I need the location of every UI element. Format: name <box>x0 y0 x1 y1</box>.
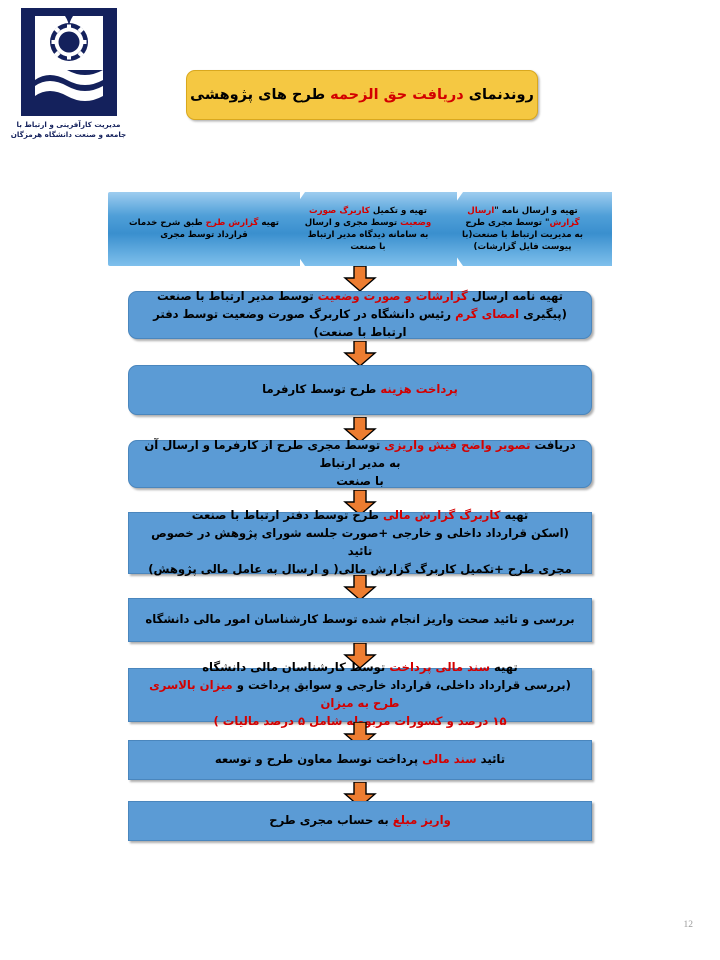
box-prepare-transmittal-letter: تهیه نامه ارسال گزارشات و صورت وضعیت توس… <box>128 291 592 339</box>
text-line: تهیه نامه ارسال گزارشات و صورت وضعیت توس… <box>139 288 581 306</box>
text-line: به سامانه دیدگاه مدیر ارتباط <box>305 229 431 241</box>
plain-text: توسط مدیر ارتباط با صنعت <box>157 289 318 303</box>
plain-text: تهیه نامه ارسال <box>468 289 563 303</box>
highlighted-text: سند مالی پرداخت <box>389 660 490 674</box>
plain-text: توسط مجری و ارسال <box>305 218 400 228</box>
text-line: واریز مبلغ به حساب مجری طرح <box>269 812 451 830</box>
plain-text: طرح توسط دفتر ارتباط با صنعت <box>192 508 383 522</box>
title-suffix: طرح های پژوهشی <box>190 87 330 103</box>
logo-caption-line1: مدیریت کارآفرینی و ارتباط با <box>9 120 129 130</box>
text-line: تهیه سند مالی پرداخت توسط کارشناسان مالی… <box>139 659 581 677</box>
highlighted-text: کاربرگ صورت <box>309 206 370 216</box>
text-line: با صنعت <box>305 241 431 253</box>
text-line: تهیه و ارسال نامه "ارسال <box>462 205 583 217</box>
process-chevron-row: تهیه گزارش طرح طبق شرح خدماتقرارداد توسط… <box>108 192 612 266</box>
plain-text: بررسی و تائید صحت واریز انجام شده توسط ک… <box>145 612 574 626</box>
text-line: گزارش" توسط مجری طرح <box>462 217 583 229</box>
text-line: دریافت تصویر واضح فیش واریزی توسط مجری ط… <box>139 437 581 473</box>
title-prefix: روندنمای <box>464 87 534 103</box>
box-8-text: واریز مبلغ به حساب مجری طرح <box>259 812 461 830</box>
plain-text: تهیه و تکمیل <box>370 206 427 216</box>
box-3-text: دریافت تصویر واضح فیش واریزی توسط مجری ط… <box>129 437 591 491</box>
organization-logo-block: مدیریت کارآفرینی و ارتباط با جامعه و صنع… <box>0 0 137 177</box>
highlighted-text: وضعیت <box>400 218 431 228</box>
text-line: (پیگیری امضای گرم رئیس دانشگاه در کاربرگ… <box>139 306 581 342</box>
slide-title-banner: روندنمای دریافت حق الزحمه طرح های پژوهشی <box>186 70 538 120</box>
slide-canvas: مدیریت کارآفرینی و ارتباط با جامعه و صنع… <box>0 0 720 960</box>
plain-text: قرارداد توسط مجری <box>160 230 248 240</box>
chevron-step-3-text: تهیه و ارسال نامه "ارسالگزارش" توسط مجری… <box>456 205 593 254</box>
text-line: به مدیریت ارتباط با صنعت(با <box>462 229 583 241</box>
plain-text: طبق شرح خدمات <box>129 218 206 228</box>
logo-caption-line2: جامعه و صنعت دانشگاه هرمزگان <box>9 130 129 140</box>
text-line: (اسکن قرارداد داخلی و خارجی +صورت جلسه ش… <box>139 525 581 561</box>
box-employer-payment: پرداخت هزینه طرح توسط کارفرما <box>128 365 592 415</box>
text-line: تائید سند مالی پرداخت توسط معاون طرح و ت… <box>215 751 505 769</box>
box-6-text: تهیه سند مالی پرداخت توسط کارشناسان مالی… <box>129 659 591 731</box>
university-emblem-icon <box>21 8 117 116</box>
highlighted-text: گزارش <box>549 218 579 228</box>
highlighted-text: امضای گرم <box>455 307 519 321</box>
plain-text: توسط مجری طرح از کارفرما و ارسال آن به م… <box>144 438 400 470</box>
text-line: پیوست فایل گزارشات) <box>462 241 583 253</box>
chevron-step-1: تهیه گزارش طرح طبق شرح خدماتقرارداد توسط… <box>108 192 300 266</box>
chevron-step-3: تهیه و ارسال نامه "ارسالگزارش" توسط مجری… <box>437 192 612 266</box>
plain-text: دریافت <box>530 438 575 452</box>
plain-text: تهیه <box>490 660 518 674</box>
plain-text: با صنعت <box>336 474 384 488</box>
plain-text: با صنعت <box>350 242 385 252</box>
text-line: وضعیت توسط مجری و ارسال <box>305 217 431 229</box>
box-1-text: تهیه نامه ارسال گزارشات و صورت وضعیت توس… <box>129 288 591 342</box>
page-title: روندنمای دریافت حق الزحمه طرح های پژوهشی <box>190 87 534 103</box>
plain-text: (پیگیری <box>519 307 567 321</box>
highlighted-text: واریز مبلغ <box>393 813 451 827</box>
text-line: بررسی و تائید صحت واریز انجام شده توسط ک… <box>145 611 574 629</box>
highlighted-text: گزارشات و صورت وضعیت <box>318 289 468 303</box>
connector-arrow-2 <box>343 341 377 367</box>
text-line: تهیه کاربرگ گزارش مالی طرح توسط دفتر ارت… <box>139 507 581 525</box>
box-4-text: تهیه کاربرگ گزارش مالی طرح توسط دفتر ارت… <box>129 507 591 579</box>
plain-text: پیوست فایل گزارشات) <box>474 242 572 252</box>
plain-text: تهیه <box>258 218 279 228</box>
text-line: (بررسی قرارداد داخلی، قرارداد خارجی و سو… <box>139 677 581 713</box>
highlighted-text: کاربرگ گزارش مالی <box>383 508 501 522</box>
text-line: تهیه و تکمیل کاربرگ صورت <box>305 205 431 217</box>
box-verify-deposit: بررسی و تائید صحت واریز انجام شده توسط ک… <box>128 598 592 642</box>
plain-text: مجری طرح +تکمیل کاربرگ گزارش مالی( و ارس… <box>148 562 572 576</box>
logo-caption: مدیریت کارآفرینی و ارتباط با جامعه و صنع… <box>9 120 129 141</box>
box-7-text: تائید سند مالی پرداخت توسط معاون طرح و ت… <box>205 751 515 769</box>
plain-text: به مدیریت ارتباط با صنعت(با <box>462 230 583 240</box>
highlighted-text: گزارش طرح <box>206 218 259 228</box>
text-line: پرداخت هزینه طرح توسط کارفرما <box>262 381 458 399</box>
text-line: قرارداد توسط مجری <box>129 229 279 241</box>
plain-text: توسط کارشناسان مالی دانشگاه <box>202 660 389 674</box>
plain-text: به حساب مجری طرح <box>269 813 393 827</box>
plain-text: رئیس دانشگاه در کاربرگ صورت وضعیت توسط د… <box>153 307 455 339</box>
box-2-text: پرداخت هزینه طرح توسط کارفرما <box>252 381 468 399</box>
plain-text: به سامانه دیدگاه مدیر ارتباط <box>308 230 429 240</box>
text-line: تهیه گزارش طرح طبق شرح خدمات <box>129 217 279 229</box>
plain-text: تهیه <box>500 508 528 522</box>
plain-text: تائید <box>477 752 506 766</box>
plain-text: پرداخت توسط معاون طرح و توسعه <box>215 752 422 766</box>
chevron-step-1-text: تهیه گزارش طرح طبق شرح خدماتقرارداد توسط… <box>123 217 285 241</box>
highlighted-text: پرداخت هزینه <box>380 382 458 396</box>
box-5-text: بررسی و تائید صحت واریز انجام شده توسط ک… <box>135 611 584 629</box>
box-approve-payment-document: تائید سند مالی پرداخت توسط معاون طرح و ت… <box>128 740 592 780</box>
plain-text: (اسکن قرارداد داخلی و خارجی +صورت جلسه ش… <box>151 526 569 558</box>
plain-text: طرح توسط کارفرما <box>262 382 380 396</box>
box-deposit-to-account: واریز مبلغ به حساب مجری طرح <box>128 801 592 841</box>
box-financial-report-form: تهیه کاربرگ گزارش مالی طرح توسط دفتر ارت… <box>128 512 592 574</box>
box-prepare-payment-document: تهیه سند مالی پرداخت توسط کارشناسان مالی… <box>128 668 592 722</box>
chevron-step-2-text: تهیه و تکمیل کاربرگ صورتوضعیت توسط مجری … <box>299 205 437 254</box>
highlighted-text: سند مالی <box>422 752 476 766</box>
plain-text: (بررسی قرارداد داخلی، قرارداد خارجی و سو… <box>233 678 571 692</box>
text-line: با صنعت <box>139 473 581 491</box>
plain-text: تهیه و ارسال نامه " <box>494 206 577 216</box>
box-receipt-image: دریافت تصویر واضح فیش واریزی توسط مجری ط… <box>128 440 592 488</box>
title-highlight: دریافت حق الزحمه <box>330 87 464 103</box>
page-number: 12 <box>684 920 694 930</box>
highlighted-text: ارسال <box>467 206 494 216</box>
plain-text: " توسط مجری طرح <box>465 218 549 228</box>
highlighted-text: تصویر واضح فیش واریزی <box>384 438 530 452</box>
chevron-step-2: تهیه و تکمیل کاربرگ صورتوضعیت توسط مجری … <box>279 192 457 266</box>
